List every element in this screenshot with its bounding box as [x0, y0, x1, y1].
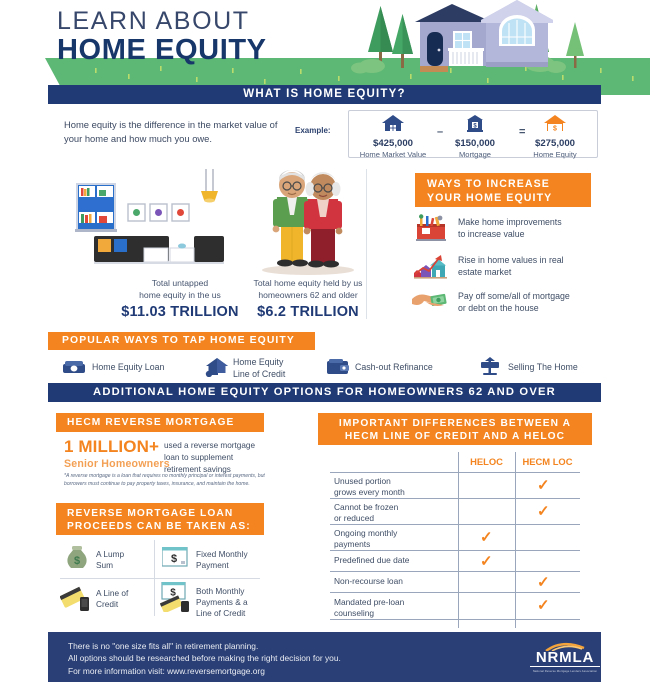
check-heloc: ✓	[480, 528, 493, 546]
table-header-heloc: HELOC	[458, 456, 515, 467]
popular-ways-banner: POPULAR WAYS TO TAP HOME EQUITY	[48, 332, 315, 350]
svg-text:$: $	[74, 555, 80, 567]
table-row: Ongoing monthly payments ✓	[330, 524, 580, 550]
hecm-million-stat: 1 MILLION+ Senior Homeowners	[64, 437, 170, 470]
check-hecm: ✓	[537, 573, 550, 591]
example-caption: Mortgage	[437, 150, 513, 159]
example-caption: Home Equity	[517, 150, 593, 159]
proceeds-2-line1: Fixed Monthly	[196, 549, 248, 560]
hecm-reverse-mortgage-banner: HECM REVERSE MORTGAGE	[56, 413, 264, 432]
way-item-3-text: Pay off some/all of mortgage or debt on …	[458, 290, 598, 315]
footer-message: There is no "one size fits all" in retir…	[68, 640, 341, 664]
stat-caption-line1: Total untapped	[110, 277, 250, 289]
example-amount: $150,000	[437, 138, 513, 149]
important-differences-banner: IMPORTANT DIFFERENCES BETWEEN A HECM LIN…	[318, 413, 592, 445]
house-orange-icon: $	[544, 115, 566, 132]
living-room-icon	[66, 169, 246, 279]
check-dollar-icon: $	[162, 547, 188, 567]
nrmla-wordmark: NRMLA	[530, 650, 600, 667]
hand-cash-icon	[412, 288, 450, 312]
nrmla-tagline: National Reverse Mortgage Lenders Associ…	[530, 669, 600, 673]
reverse-mortgage-proceeds-banner: REVERSE MORTGAGE LOAN PROCEEDS CAN BE TA…	[56, 503, 264, 535]
example-column-mortgage: $ $150,000 Mortgage	[437, 115, 513, 159]
proceeds-2-line2: Payment	[196, 560, 248, 571]
table-row: Predefined due date ✓	[330, 550, 580, 571]
table-row: Mandated pre-loan counseling ✓	[330, 592, 580, 620]
proceeds-options-grid: $ A Lump Sum $ Fixed Monthly Payment A L…	[56, 538, 264, 618]
table-row: Unused portion grows every month ✓	[330, 472, 580, 498]
row-label-line2: grows every month	[334, 487, 405, 498]
proceeds-3-line1: A Line of	[96, 588, 128, 599]
way-item-2-text: Rise in home values in real estate marke…	[458, 254, 588, 279]
row-label-line1: Predefined due date	[334, 555, 409, 566]
row-label-line2: payments	[334, 539, 397, 550]
way-text-line1: Rise in home values in real	[458, 254, 588, 266]
house-illustration	[415, 0, 553, 72]
differences-comparison-table: HELOC HECM LOC Unused portion grows ever…	[330, 452, 580, 620]
house-key-icon	[205, 357, 229, 377]
row-label-line1: Mandated pre-loan	[334, 597, 404, 608]
table-row-label: Predefined due date	[334, 555, 409, 566]
proceeds-3-line2: Credit	[96, 599, 128, 610]
check-hecm: ✓	[537, 596, 550, 614]
table-row: Non-recourse loan ✓	[330, 571, 580, 592]
bank-icon: $	[467, 115, 483, 132]
table-row-label: Ongoing monthly payments	[334, 528, 397, 551]
header-hero: LEARN ABOUT HOME EQUITY	[0, 0, 650, 95]
footer-line2: All options should be researched before …	[68, 652, 341, 664]
proceeds-4-line2: Payments & a	[196, 597, 248, 608]
svg-text:$: $	[553, 126, 557, 132]
popular-way-4-label: Selling The Home	[508, 362, 578, 374]
what-is-home-equity-banner: WHAT IS HOME EQUITY?	[48, 85, 601, 104]
stat-value: $11.03 TRILLION	[110, 304, 250, 320]
row-label-line2: counseling	[334, 608, 404, 619]
hecm-fineprint-disclaimer: *A reverse mortgage is a loan that requi…	[64, 473, 269, 488]
row-label-line1: Ongoing monthly	[334, 528, 397, 539]
hecm-stat-number: 1 MILLION+	[64, 437, 170, 457]
footer-line1: There is no "one size fits all" in retir…	[68, 640, 341, 652]
stat-senior-equity: Total home equity held by us homeowners …	[233, 277, 383, 320]
table-row-label: Cannot be frozen or reduced	[334, 502, 398, 525]
differences-banner-line1: IMPORTANT DIFFERENCES BETWEEN A	[318, 417, 592, 430]
card-check-icon: $	[160, 582, 194, 612]
table-header-hecm-loc: HECM LOC	[515, 456, 580, 467]
popular-way-2-line1: Home Equity	[233, 357, 313, 369]
example-amount: $275,000	[517, 138, 593, 149]
check-hecm: ✓	[537, 476, 550, 494]
example-calculation-box: $425,000 Home Market Value – $ $150,000 …	[348, 110, 598, 158]
money-bag-icon: $	[64, 545, 90, 571]
additional-options-banner: ADDITIONAL HOME EQUITY OPTIONS FOR HOMEO…	[48, 383, 601, 402]
example-column-home-equity: $ $275,000 Home Equity	[517, 115, 593, 159]
example-column-market-value: $425,000 Home Market Value	[355, 115, 431, 159]
proceeds-4-line3: Line of Credit	[196, 608, 248, 619]
popular-way-3-label: Cash-out Refinance	[355, 362, 433, 374]
footer-visit-link[interactable]: For more information visit: www.reversem…	[68, 666, 265, 676]
proceeds-banner-line2: PROCEEDS CAN BE TAKEN AS:	[67, 520, 264, 533]
svg-text:$: $	[171, 553, 177, 565]
popular-way-2-line2: Line of Credit	[233, 369, 313, 381]
table-header-row: HELOC HECM LOC	[330, 452, 580, 472]
stat-caption-line2: home equity in the us	[110, 289, 250, 301]
house-growth-chart-icon	[414, 252, 448, 280]
title-line-1: LEARN ABOUT	[57, 8, 267, 34]
way-text-line1: Make home improvements	[458, 216, 588, 228]
row-label-line2: or reduced	[334, 513, 398, 524]
wallet-icon	[327, 359, 349, 375]
proceeds-option-2-label: Fixed Monthly Payment	[196, 549, 248, 571]
table-row-label: Mandated pre-loan counseling	[334, 597, 404, 620]
differences-banner-line2: HECM LINE OF CREDIT AND A HELOC	[318, 430, 592, 443]
proceeds-option-1-label: A Lump Sum	[96, 549, 124, 571]
senior-couple-icon	[253, 167, 363, 277]
page-title: LEARN ABOUT HOME EQUITY	[57, 8, 267, 66]
way-text-line2: or debt on the house	[458, 302, 598, 314]
row-label-line1: Cannot be frozen	[334, 502, 398, 513]
what-is-home-equity-body: Home equity is the difference in the mar…	[48, 104, 601, 162]
proceeds-option-3-label: A Line of Credit	[96, 588, 128, 610]
way-text-line1: Pay off some/all of mortgage	[458, 290, 598, 302]
toolbox-icon	[414, 214, 448, 242]
proceeds-4-line1: Both Monthly	[196, 586, 248, 597]
credit-card-icon	[60, 584, 94, 612]
nrmla-logo: NRMLA National Reverse Mortgage Lenders …	[530, 642, 600, 673]
ways-banner-line2: YOUR HOME EQUITY	[427, 192, 591, 206]
hecm-desc-line1: used a reverse mortgage	[164, 440, 272, 452]
cash-stack-icon	[63, 360, 85, 374]
way-text-line2: estate market	[458, 266, 588, 278]
proceeds-option-4-label: Both Monthly Payments & a Line of Credit	[196, 586, 248, 620]
example-label: Example:	[295, 126, 331, 135]
stat-value: $6.2 TRILLION	[233, 304, 383, 320]
table-row-label: Unused portion grows every month	[334, 476, 405, 499]
stat-caption-line1: Total home equity held by us	[233, 277, 383, 289]
popular-way-1-label: Home Equity Loan	[92, 362, 164, 374]
proceeds-grid-hline	[60, 578, 260, 579]
way-text-line2: to increase value	[458, 228, 588, 240]
home-equity-description: Home equity is the difference in the mar…	[64, 118, 294, 146]
table-row: Cannot be frozen or reduced ✓	[330, 498, 580, 524]
hecm-desc-line2: loan to supplement	[164, 452, 272, 464]
row-label-line1: Non-recourse loan	[334, 576, 403, 587]
hecm-stat-subtitle: Senior Homeowners	[64, 458, 170, 470]
example-caption: Home Market Value	[355, 150, 431, 159]
proceeds-1-line1: A Lump	[96, 549, 124, 560]
stat-caption-line2: homeowners 62 and older	[233, 289, 383, 301]
check-hecm: ✓	[537, 502, 550, 520]
house-navy-icon	[382, 115, 404, 132]
footer-bar: There is no "one size fits all" in retir…	[48, 632, 601, 682]
proceeds-1-line2: Sum	[96, 560, 124, 571]
for-sale-sign-icon	[480, 357, 500, 375]
hecm-stat-description: used a reverse mortgage loan to suppleme…	[164, 440, 272, 476]
popular-way-2-label: Home Equity Line of Credit	[233, 357, 313, 381]
infographic-page: LEARN ABOUT HOME EQUITY WHAT IS HOME EQU…	[0, 0, 650, 691]
way-item-1-text: Make home improvements to increase value	[458, 216, 588, 241]
title-line-2: HOME EQUITY	[57, 35, 267, 65]
row-label-line1: Unused portion	[334, 476, 405, 487]
check-heloc: ✓	[480, 552, 493, 570]
ways-banner-line1: WAYS TO INCREASE	[427, 178, 591, 192]
proceeds-banner-line1: REVERSE MORTGAGE LOAN	[67, 507, 264, 520]
table-row-label: Non-recourse loan	[334, 576, 403, 587]
example-amount: $425,000	[355, 138, 431, 149]
ways-to-increase-banner: WAYS TO INCREASE YOUR HOME EQUITY	[415, 173, 591, 207]
stat-untapped-equity: Total untapped home equity in the us $11…	[110, 277, 250, 320]
